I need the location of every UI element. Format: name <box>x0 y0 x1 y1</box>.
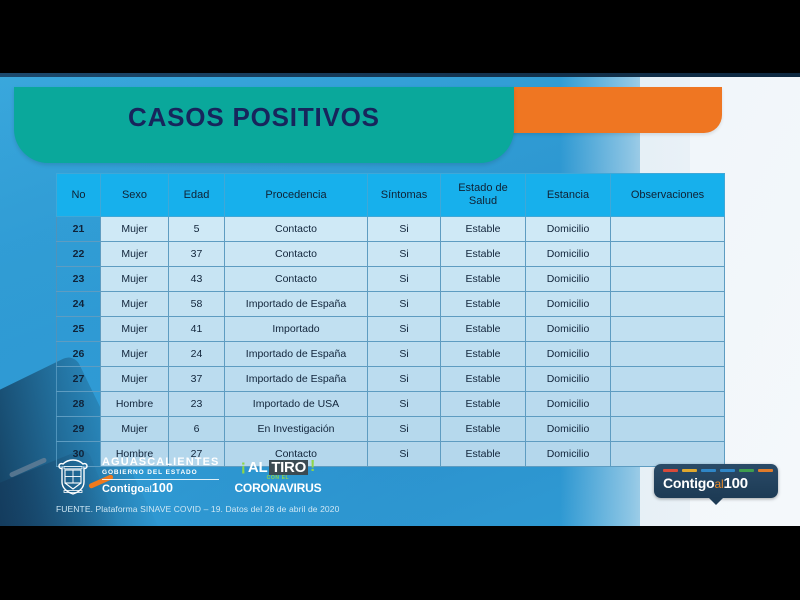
cell-estancia: Domicilio <box>526 367 611 392</box>
cell-estancia: Domicilio <box>526 342 611 367</box>
cell-estado-salud: Estable <box>441 442 526 467</box>
table-row: 24Mujer58Importado de EspañaSiEstableDom… <box>57 292 725 317</box>
cell-estancia: Domicilio <box>526 217 611 242</box>
cell-edad: 43 <box>169 267 225 292</box>
cell-procedencia: Importado de España <box>225 367 368 392</box>
altiro-word-al: AL <box>248 460 267 475</box>
cell-sintomas: Si <box>368 292 441 317</box>
cell-observaciones <box>611 292 725 317</box>
cell-sexo: Mujer <box>101 242 169 267</box>
cell-sexo: Mujer <box>101 267 169 292</box>
cell-edad: 24 <box>169 342 225 367</box>
cell-no: 29 <box>57 417 101 442</box>
table-row: 28Hombre23Importado de USASiEstableDomic… <box>57 392 725 417</box>
badge-label: Contigoal100 <box>663 475 748 492</box>
cell-sintomas: Si <box>368 417 441 442</box>
cell-edad: 58 <box>169 292 225 317</box>
cell-sexo: Mujer <box>101 342 169 367</box>
table-row: 27Mujer37Importado de EspañaSiEstableDom… <box>57 367 725 392</box>
cell-observaciones <box>611 317 725 342</box>
cell-procedencia: Contacto <box>225 267 368 292</box>
cell-estancia: Domicilio <box>526 317 611 342</box>
cell-no: 24 <box>57 292 101 317</box>
cell-estado-salud: Estable <box>441 417 526 442</box>
table-row: 25Mujer41ImportadoSiEstableDomicilio <box>57 317 725 342</box>
cell-estado-salud: Estable <box>441 217 526 242</box>
cell-sexo: Mujer <box>101 417 169 442</box>
page-title: CASOS POSITIVOS <box>128 102 380 133</box>
column-header-edad: Edad <box>169 174 225 217</box>
ags-slogan-mid: al <box>144 484 152 495</box>
cell-sexo: Hombre <box>101 392 169 417</box>
aguascalientes-crest-icon <box>56 458 90 496</box>
cell-estado-salud: Estable <box>441 392 526 417</box>
cell-procedencia: En Investigación <box>225 417 368 442</box>
cell-estancia: Domicilio <box>526 392 611 417</box>
cell-observaciones <box>611 417 725 442</box>
cell-estancia: Domicilio <box>526 242 611 267</box>
cell-procedencia: Importado de España <box>225 342 368 367</box>
column-header-procedencia: Procedencia <box>225 174 368 217</box>
cell-sintomas: Si <box>368 367 441 392</box>
cell-observaciones <box>611 367 725 392</box>
cell-sintomas: Si <box>368 442 441 467</box>
ags-subtitle: GOBIERNO DEL ESTADO <box>102 470 219 477</box>
cell-no: 22 <box>57 242 101 267</box>
column-header-no: No <box>57 174 101 217</box>
table-row: 22Mujer37ContactoSiEstableDomicilio <box>57 242 725 267</box>
footer-logos: AGUASCALIENTES GOBIERNO DEL ESTADO Conti… <box>56 457 324 496</box>
slide-screen: CASOS POSITIVOS No Sexo Edad Procedencia… <box>0 0 800 600</box>
table-row: 23Mujer43ContactoSiEstableDomicilio <box>57 267 725 292</box>
contigo-al-100-badge: Contigoal100 <box>654 464 778 498</box>
column-header-sexo: Sexo <box>101 174 169 217</box>
cell-edad: 23 <box>169 392 225 417</box>
cell-sintomas: Si <box>368 267 441 292</box>
table-row: 26Mujer24Importado de EspañaSiEstableDom… <box>57 342 725 367</box>
cell-sintomas: Si <box>368 217 441 242</box>
cell-estancia: Domicilio <box>526 417 611 442</box>
altiro-campaign-logo: ¡ AL TIRO ! CON EL CORONAVIRUS <box>231 457 324 496</box>
cell-sintomas: Si <box>368 242 441 267</box>
cell-estancia: Domicilio <box>526 442 611 467</box>
cell-observaciones <box>611 242 725 267</box>
cell-estado-salud: Estable <box>441 342 526 367</box>
cell-procedencia: Importado de USA <box>225 392 368 417</box>
table-body: 21Mujer5ContactoSiEstableDomicilio22Muje… <box>57 217 725 467</box>
badge-color-bar-4 <box>739 469 754 472</box>
cell-estado-salud: Estable <box>441 267 526 292</box>
cell-sexo: Mujer <box>101 217 169 242</box>
column-header-observaciones: Observaciones <box>611 174 725 217</box>
badge-color-bar-1 <box>682 469 697 472</box>
cell-sintomas: Si <box>368 342 441 367</box>
cell-procedencia: Contacto <box>225 242 368 267</box>
cell-observaciones <box>611 217 725 242</box>
badge-prefix: Contigo <box>663 475 714 491</box>
cell-edad: 5 <box>169 217 225 242</box>
cell-estado-salud: Estable <box>441 317 526 342</box>
cell-estado-salud: Estable <box>441 292 526 317</box>
ags-slogan: Contigoal100 <box>102 482 219 496</box>
cell-observaciones <box>611 392 725 417</box>
aguascalientes-wordmark: AGUASCALIENTES GOBIERNO DEL ESTADO Conti… <box>102 457 219 496</box>
cell-estancia: Domicilio <box>526 292 611 317</box>
cell-procedencia: Importado <box>225 317 368 342</box>
ags-divider <box>102 479 219 480</box>
cell-observaciones <box>611 442 725 467</box>
cell-no: 28 <box>57 392 101 417</box>
cell-sexo: Mujer <box>101 292 169 317</box>
cell-sexo: Mujer <box>101 317 169 342</box>
badge-color-bar-5 <box>758 469 773 472</box>
positive-cases-table: No Sexo Edad Procedencia Síntomas Estado… <box>56 173 725 467</box>
cell-no: 23 <box>57 267 101 292</box>
cell-estado-salud: Estable <box>441 367 526 392</box>
table-row: 29Mujer6En InvestigaciónSiEstableDomicil… <box>57 417 725 442</box>
badge-color-bar-0 <box>663 469 678 472</box>
cell-no: 25 <box>57 317 101 342</box>
ags-slogan-prefix: Contigo <box>102 483 144 495</box>
column-header-sintomas: Síntomas <box>368 174 441 217</box>
presentation-slide: CASOS POSITIVOS No Sexo Edad Procedencia… <box>0 73 800 526</box>
badge-color-bar-3 <box>720 469 735 472</box>
column-header-estado-salud: Estado de Salud <box>441 174 526 217</box>
cell-no: 26 <box>57 342 101 367</box>
cell-sexo: Mujer <box>101 367 169 392</box>
ags-slogan-number: 100 <box>152 481 173 495</box>
cell-estado-salud: Estable <box>441 242 526 267</box>
altiro-top-row: ¡ AL TIRO ! <box>234 459 321 475</box>
slide-top-rule <box>0 73 800 77</box>
column-header-estancia: Estancia <box>526 174 611 217</box>
cell-procedencia: Contacto <box>225 217 368 242</box>
altiro-exclamation-close: ! <box>310 459 315 475</box>
table-header: No Sexo Edad Procedencia Síntomas Estado… <box>57 174 725 217</box>
badge-color-bar-2 <box>701 469 716 472</box>
badge-color-bars <box>663 469 773 472</box>
cell-sintomas: Si <box>368 392 441 417</box>
table-header-row: No Sexo Edad Procedencia Síntomas Estado… <box>57 174 725 217</box>
cell-procedencia: Importado de España <box>225 292 368 317</box>
badge-number: 100 <box>723 475 747 492</box>
cell-estancia: Domicilio <box>526 267 611 292</box>
cell-observaciones <box>611 342 725 367</box>
cell-edad: 41 <box>169 317 225 342</box>
cell-no: 21 <box>57 217 101 242</box>
cell-observaciones <box>611 267 725 292</box>
cell-edad: 6 <box>169 417 225 442</box>
table-row: 21Mujer5ContactoSiEstableDomicilio <box>57 217 725 242</box>
ags-state-name: AGUASCALIENTES <box>102 457 219 469</box>
altiro-word-coronavirus: CORONAVIRUS <box>234 482 321 494</box>
cell-edad: 37 <box>169 242 225 267</box>
cell-no: 27 <box>57 367 101 392</box>
cell-sintomas: Si <box>368 317 441 342</box>
altiro-exclamation-open: ¡ <box>241 459 246 475</box>
altiro-word-tiro: TIRO <box>269 460 308 475</box>
cell-edad: 37 <box>169 367 225 392</box>
source-note: FUENTE. Plataforma SINAVE COVID – 19. Da… <box>56 504 339 514</box>
